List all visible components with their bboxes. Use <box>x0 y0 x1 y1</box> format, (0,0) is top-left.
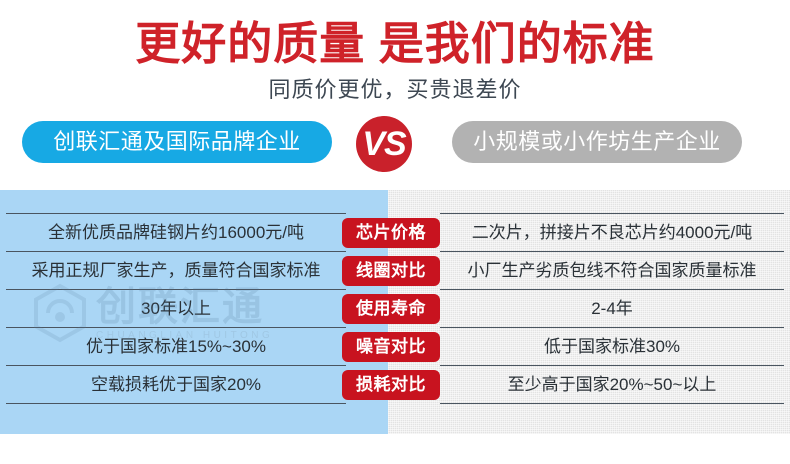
comparison-cell-ours: 30年以上 <box>6 290 346 328</box>
comparison-row: 优于国家标准15%~30%噪音对比低于国家标准30% <box>0 328 790 366</box>
comparison-category-badge: 使用寿命 <box>342 294 440 324</box>
comparison-panel: 全新优质品牌硅钢片约16000元/吨芯片价格二次片，拼接片不良芯片约4000元/… <box>0 190 790 434</box>
comparison-cell-ours: 优于国家标准15%~30% <box>6 328 346 366</box>
versus-row: 创联汇通及国际品牌企业 VS 小规模或小作坊生产企业 <box>0 116 790 172</box>
page-title: 更好的质量 是我们的标准 <box>0 18 790 70</box>
comparison-cell-theirs: 至少高于国家20%~50~以上 <box>440 366 784 404</box>
comparison-category-badge: 芯片价格 <box>342 218 440 248</box>
brand-pill-left: 创联汇通及国际品牌企业 <box>22 121 332 163</box>
comparison-row: 采用正规厂家生产，质量符合国家标准线圈对比小厂生产劣质包线不符合国家质量标准 <box>0 252 790 290</box>
comparison-cell-theirs: 二次片，拼接片不良芯片约4000元/吨 <box>440 214 784 252</box>
comparison-cell-ours: 空载损耗优于国家20% <box>6 366 346 404</box>
row-divider-left <box>6 403 346 404</box>
brand-pill-right: 小规模或小作坊生产企业 <box>452 121 742 163</box>
comparison-category-badge: 噪音对比 <box>342 332 440 362</box>
comparison-cell-ours: 全新优质品牌硅钢片约16000元/吨 <box>6 214 346 252</box>
comparison-row-footer <box>0 404 790 442</box>
comparison-cell-ours: 采用正规厂家生产，质量符合国家标准 <box>6 252 346 290</box>
comparison-rows: 全新优质品牌硅钢片约16000元/吨芯片价格二次片，拼接片不良芯片约4000元/… <box>0 190 790 434</box>
comparison-category-badge: 损耗对比 <box>342 370 440 400</box>
comparison-cell-theirs: 小厂生产劣质包线不符合国家质量标准 <box>440 252 784 290</box>
page-subtitle: 同质价更优，买贵退差价 <box>0 76 790 104</box>
comparison-cell-theirs: 低于国家标准30% <box>440 328 784 366</box>
vs-badge: VS <box>356 116 412 172</box>
promo-banner: 更好的质量 是我们的标准 同质价更优，买贵退差价 创联汇通及国际品牌企业 VS … <box>0 0 790 464</box>
comparison-category-badge: 线圈对比 <box>342 256 440 286</box>
comparison-cell-theirs: 2-4年 <box>440 290 784 328</box>
comparison-row: 30年以上使用寿命2-4年 <box>0 290 790 328</box>
row-divider-right <box>440 403 784 404</box>
comparison-row: 全新优质品牌硅钢片约16000元/吨芯片价格二次片，拼接片不良芯片约4000元/… <box>0 214 790 252</box>
comparison-row: 空载损耗优于国家20%损耗对比至少高于国家20%~50~以上 <box>0 366 790 404</box>
